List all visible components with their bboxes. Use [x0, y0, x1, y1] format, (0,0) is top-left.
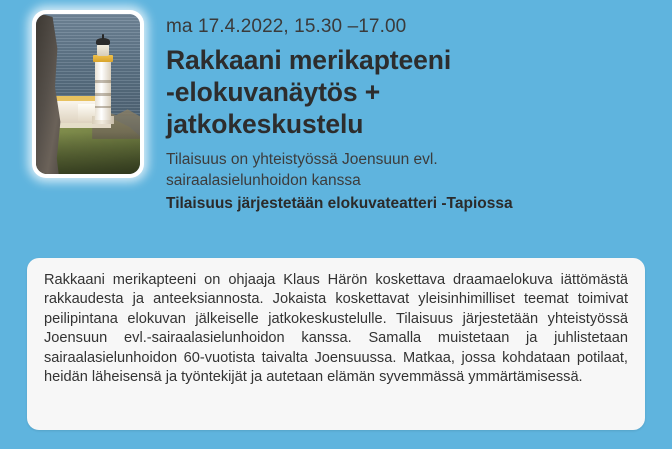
event-title-line-2: -elokuvanäytös +: [166, 76, 656, 108]
event-subtitle-line-2: sairaalasielunhoidon kanssa: [166, 171, 656, 192]
event-venue-note: Tilaisuus järjestetään elokuvateatteri -…: [166, 193, 656, 214]
event-subtitle: Tilaisuus on yhteistyössä Joensuun evl. …: [166, 150, 656, 191]
tower-band: [95, 93, 111, 96]
lighthouse-photo-frame: [32, 10, 144, 178]
event-title: Rakkaani merikapteeni -elokuvanäytös + j…: [166, 44, 656, 140]
lighthouse-lantern: [97, 44, 109, 55]
lighthouse-lantern-dome: [96, 38, 110, 45]
poster-header: ma 17.4.2022, 15.30 –17.00 Rakkaani meri…: [0, 0, 672, 252]
header-text-block: ma 17.4.2022, 15.30 –17.00 Rakkaani meri…: [166, 14, 656, 214]
lighthouse-photo: [36, 14, 140, 174]
event-subtitle-line-1: Tilaisuus on yhteistyössä Joensuun evl.: [166, 150, 656, 171]
lighthouse-finial: [102, 34, 105, 39]
event-title-line-3: jatkokeskustelu: [166, 108, 656, 140]
lighthouse-gallery: [93, 55, 114, 62]
description-card: Rakkaani merikapteeni on ohjaaja Klaus H…: [27, 258, 645, 430]
keeper-building-roof: [54, 96, 98, 102]
tower-band: [95, 80, 111, 83]
description-paragraph: Rakkaani merikapteeni on ohjaaja Klaus H…: [44, 271, 628, 387]
tower-band: [95, 106, 111, 109]
event-date: ma 17.4.2022, 15.30 –17.00: [166, 14, 656, 40]
event-poster: ma 17.4.2022, 15.30 –17.00 Rakkaani meri…: [0, 0, 672, 449]
lighthouse-tower: [95, 56, 111, 120]
event-title-line-1: Rakkaani merikapteeni: [166, 44, 656, 76]
